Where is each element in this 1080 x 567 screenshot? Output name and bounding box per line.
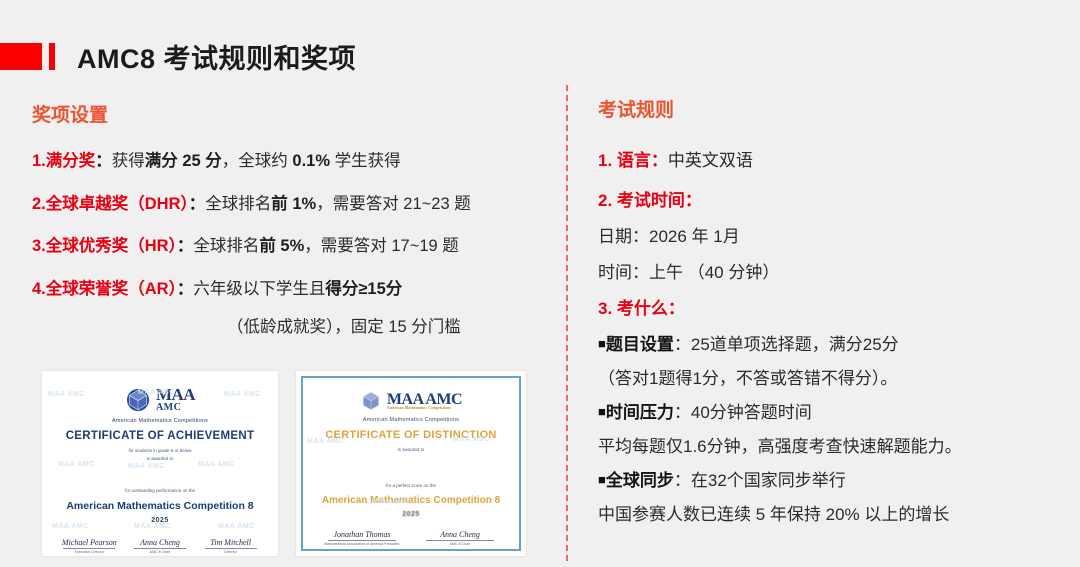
rule-bullet-1-note: （答对1题得1分，不答或答错不得分）。 xyxy=(598,370,1068,387)
maa-amc-logo: MAA AMC American Mathematics Competition… xyxy=(313,390,509,412)
maa-text: MAA AMC xyxy=(387,392,462,407)
certificate-title: CERTIFICATE OF ACHIEVEMENT xyxy=(54,430,266,442)
slide-header: AMC8 考试规则和奖项 xyxy=(0,32,356,80)
signature: Michael Pearson Executive Director xyxy=(59,538,119,554)
polyhedron-icon xyxy=(125,387,151,413)
certificate-subtitle-1: for students in grade 6 or below xyxy=(54,447,266,454)
signature-line xyxy=(63,548,115,549)
certificate-mid-text: for outstanding performance on the xyxy=(54,488,266,493)
rule-bullet-3-note: 中国参赛人数已连续 5 年保持 20% 以上的增长 xyxy=(598,506,1068,523)
certificate-competition: American Mathematics Competition 8 xyxy=(313,495,509,506)
page-title: AMC8 考试规则和奖项 xyxy=(77,37,356,76)
rule-bullet-1: ■题目设置：25道单项选择题，满分25分 xyxy=(598,336,1068,353)
award-text-2: ，全球约 xyxy=(222,152,293,170)
rule-label: 1. 语言： xyxy=(598,151,668,170)
watermark: MAA AMC xyxy=(128,463,165,470)
award-label: 2.全球卓越奖（DHR） xyxy=(32,195,189,213)
certificate-subtitle-2: is awarded to xyxy=(54,455,266,462)
award-bold-2: 0.1% xyxy=(292,152,330,170)
award-bold-1: 满分 25 分 xyxy=(145,152,222,170)
award-text-2: ，需要答对 17~19 题 xyxy=(304,237,459,255)
award-colon: ： xyxy=(177,280,194,298)
signature: Anna Cheng AMC 8 Chair xyxy=(422,530,498,546)
award-row-2: 2.全球卓越奖（DHR）：全球排名前 1%，需要答对 21~23 题 xyxy=(32,196,552,213)
certificate-competition: American Mathematics Competition 8 xyxy=(54,500,266,512)
signature-line xyxy=(205,548,257,549)
award-text-3: 学生获得 xyxy=(330,152,401,170)
rule-item-exam-time: 2. 考试时间： xyxy=(598,192,1068,209)
award-label: 4.全球荣誉奖（AR） xyxy=(32,280,177,298)
award-bold-1: 前 1% xyxy=(271,195,316,213)
certificate-year: 2025 xyxy=(313,511,509,518)
award-colon: ： xyxy=(177,237,194,255)
rule-label: 2. 考试时间： xyxy=(598,191,702,210)
right-column: 考试规则 1. 语言：中英文双语 2. 考试时间： 日期：2026 年 1月 时… xyxy=(598,95,1068,540)
square-bullet-icon: ■ xyxy=(598,336,606,351)
certificate-achievement[interactable]: MAA AMC MAA AMC MAA AMC MAA AMC MAA AMC … xyxy=(42,371,278,556)
rule-item-time: 时间：上午 （40 分钟） xyxy=(598,264,1068,281)
award-text-2: ，需要答对 21~23 题 xyxy=(316,195,471,213)
signature-block: Michael Pearson Executive Director Anna … xyxy=(54,538,266,554)
certificate-year: 2025 xyxy=(54,517,266,524)
column-divider xyxy=(566,85,568,561)
rule-bullet-2-note: 平均每题仅1.6分钟，高强度考查快速解题能力。 xyxy=(598,438,1068,455)
certificate-frame: MAA AMC MAA AMC MAA AMC MAA AMC American… xyxy=(301,376,521,551)
signature: Anna Cheng AMC 8 Chair xyxy=(130,538,190,554)
award-row-1: 1.满分奖：获得满分 25 分，全球约 0.1% 学生获得 xyxy=(32,153,552,170)
certificate-org: American Mathematics Competitions xyxy=(313,417,509,423)
rule-bullet-3: ■全球同步：在32个国家同步举行 xyxy=(598,472,1068,489)
signature-ink: Michael Pearson xyxy=(59,538,119,547)
award-text-1: 全球排名 xyxy=(205,195,271,213)
award-text-1: 全球排名 xyxy=(193,237,259,255)
rule-item-language: 1. 语言：中英文双语 xyxy=(598,152,1068,169)
rule-value: 2026 年 1月 xyxy=(649,227,740,246)
amc-text: AMC xyxy=(156,403,195,413)
award-bold-1: 前 5% xyxy=(259,237,304,255)
square-bullet-icon: ■ xyxy=(598,472,606,487)
maa-wordmark: MAA AMC xyxy=(156,387,195,413)
signature-block: Jonathan Thomas Mathematical Association… xyxy=(313,530,509,546)
rule-value: 上午 （40 分钟） xyxy=(649,263,779,282)
left-column: 奖项设置 1.满分奖：获得满分 25 分，全球约 0.1% 学生获得 2.全球卓… xyxy=(32,100,552,362)
bullet-colon: ： xyxy=(674,335,691,354)
rule-value: 中英文双语 xyxy=(668,151,753,170)
certificate-mid-text: for a perfect score on the xyxy=(313,483,509,488)
rule-label: 3. 考什么： xyxy=(598,299,685,318)
slide-root: AMC8 考试规则和奖项 奖项设置 1.满分奖：获得满分 25 分，全球约 0.… xyxy=(0,0,1080,567)
polyhedron-icon xyxy=(360,390,382,412)
award-text-1: 获得 xyxy=(112,152,145,170)
bullet-label: 全球同步 xyxy=(606,471,674,490)
signature-ink: Tim Mitchell xyxy=(201,538,261,547)
signature-caption: Mathematical Association of America Pres… xyxy=(324,542,400,546)
header-accent-bar xyxy=(49,43,55,70)
rules-section-title: 考试规则 xyxy=(598,95,1068,122)
signature-line xyxy=(134,548,186,549)
bullet-label: 题目设置 xyxy=(606,335,674,354)
maa-wordmark: MAA AMC American Mathematics Competition… xyxy=(387,392,462,411)
signature: Tim Mitchell Director xyxy=(201,538,261,554)
award-row-3: 3.全球优秀奖（HR）：全球排名前 5%，需要答对 17~19 题 xyxy=(32,238,552,255)
signature-caption: Director xyxy=(201,550,261,554)
signature-caption: AMC 8 Chair xyxy=(422,542,498,546)
bullet-colon: ： xyxy=(674,471,691,490)
signature-line xyxy=(328,540,396,541)
signature-caption: AMC 8 Chair xyxy=(130,550,190,554)
award-colon: ： xyxy=(95,152,112,170)
bullet-colon: ： xyxy=(674,403,691,422)
header-accent-block xyxy=(0,43,42,70)
signature: Jonathan Thomas Mathematical Association… xyxy=(324,530,400,546)
signature-ink: Jonathan Thomas xyxy=(324,530,400,539)
maa-amc-logo: MAA AMC xyxy=(54,387,266,413)
award-text-1: 六年级以下学生且 xyxy=(193,280,325,298)
certificate-title: CERTIFICATE OF DISTINCTION xyxy=(313,429,509,441)
bullet-value: 25道单项选择题，满分25分 xyxy=(691,335,899,354)
award-row-4: 4.全球荣誉奖（AR）：六年级以下学生且得分≥15分 xyxy=(32,281,552,298)
certificate-subtitle-1: is awarded to xyxy=(313,446,509,453)
signature-caption: Executive Director xyxy=(59,550,119,554)
certificate-org: American Mathematics Competitions xyxy=(54,418,266,424)
certificate-distinction[interactable]: MAA AMC MAA AMC MAA AMC MAA AMC American… xyxy=(296,371,526,556)
awards-section-title: 奖项设置 xyxy=(32,100,552,127)
bullet-label: 时间压力 xyxy=(606,403,674,422)
signature-line xyxy=(426,540,494,541)
bullet-value: 在32个国家同步举行 xyxy=(691,471,846,490)
rule-item-date: 日期：2026 年 1月 xyxy=(598,228,1068,245)
award-bold-1: 得分≥15分 xyxy=(325,280,402,298)
bullet-value: 40分钟答题时间 xyxy=(691,403,812,422)
square-bullet-icon: ■ xyxy=(598,404,606,419)
rule-label: 日期： xyxy=(598,227,649,246)
maa-text: MAA xyxy=(156,387,195,403)
rule-item-content: 3. 考什么： xyxy=(598,300,1068,317)
award-note: （低龄成就奖），固定 15 分门槛 xyxy=(32,319,552,336)
award-label: 3.全球优秀奖（HR） xyxy=(32,237,177,255)
award-colon: ： xyxy=(189,195,206,213)
certificate-gallery: MAA AMC MAA AMC MAA AMC MAA AMC MAA AMC … xyxy=(42,371,526,556)
signature-ink: Anna Cheng xyxy=(130,538,190,547)
rule-label: 时间： xyxy=(598,263,649,282)
signature-ink: Anna Cheng xyxy=(422,530,498,539)
amc-subtext: American Mathematics Competitions xyxy=(387,407,462,410)
rule-bullet-2: ■时间压力：40分钟答题时间 xyxy=(598,404,1068,421)
award-label: 1.满分奖 xyxy=(32,152,95,170)
